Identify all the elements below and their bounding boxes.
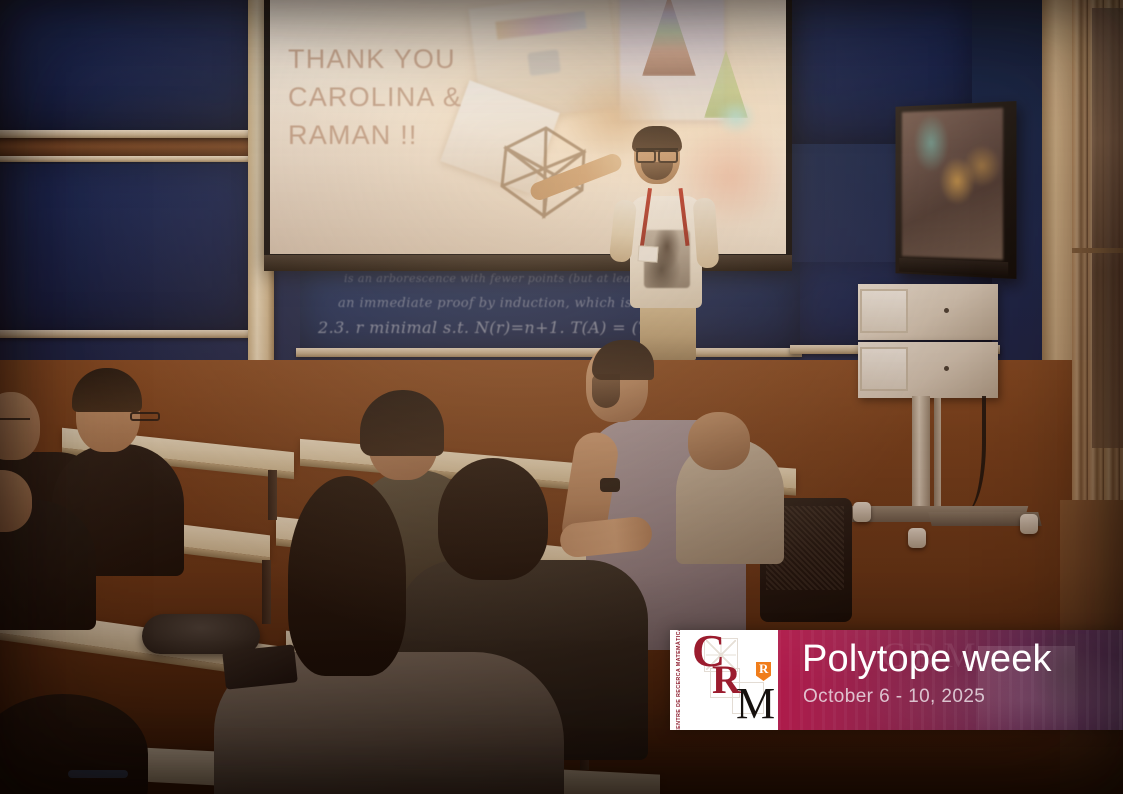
cart-caster [1020,514,1038,534]
drawer-knob-icon [944,308,949,313]
monitor-bezel [899,258,1008,277]
cart-caster [853,502,871,522]
lecture-hall-photo: a b [n] is an arborescence with fewer po… [0,0,1123,794]
audience-head [438,458,548,580]
event-banner: CENTRE DE RECERCA MATEMÀTICA C R M R CRM… [670,630,1123,730]
drawer-front-panel [860,347,908,391]
lanyard-strap [68,770,128,778]
board-rail [0,330,256,338]
crm-logo: CENTRE DE RECERCA MATEMÀTICA C R M R [670,630,778,730]
tablet-on-desk [222,644,298,689]
cart-drawer-top [858,284,998,340]
drawer-knob-icon [944,366,949,371]
board-rail [296,348,802,357]
board-rail [0,130,256,138]
chalk-line-3: 2.3. r minimal s.t. N(r)=n+1. T(A) = (T(… [318,318,687,337]
blackboard-top-left [0,0,256,130]
cart-column [912,396,930,514]
glasses-icon [0,418,30,426]
presenter-badge [637,245,658,262]
cart-drawer-bottom [858,342,998,398]
partition-glass-pane [1092,8,1123,448]
blackboard-bottom-left: a b [0,164,256,336]
chalk-line-1: is an arborescence with fewer points (bu… [344,272,641,285]
monitor-screen [902,108,1003,260]
seated-speaker-beard [592,374,620,408]
audience-head [288,476,406,676]
logo-badge-letter: R [759,662,768,676]
partition-divider [1072,248,1123,253]
logo-letter-m: M [736,682,775,726]
desk-leg [262,560,271,624]
crm-logo-vertical-text: CENTRE DE RECERCA MATEMÀTICA [676,630,682,730]
desk-leg [268,470,277,520]
cart-caster [908,528,926,548]
audience-head [688,412,750,470]
wristwatch [600,478,620,492]
cart-column-rear [934,398,941,510]
glasses-icon [130,412,160,421]
crm-logo-marks: C R M R [684,630,778,730]
banner-dates: October 6 - 10, 2025 [803,686,985,708]
beanie-on-desk [142,614,260,654]
presenter-lanyard [640,188,692,250]
wall-monitor [896,101,1017,279]
banner-title: Polytope week [802,639,1052,681]
glasses-icon [636,148,678,158]
board-rail [0,156,256,162]
chalk-shelf-strip [0,136,256,158]
drawer-front-panel [860,289,908,333]
banner-body: CRM Polytope week October 6 - 10, 2025 [778,630,1123,730]
